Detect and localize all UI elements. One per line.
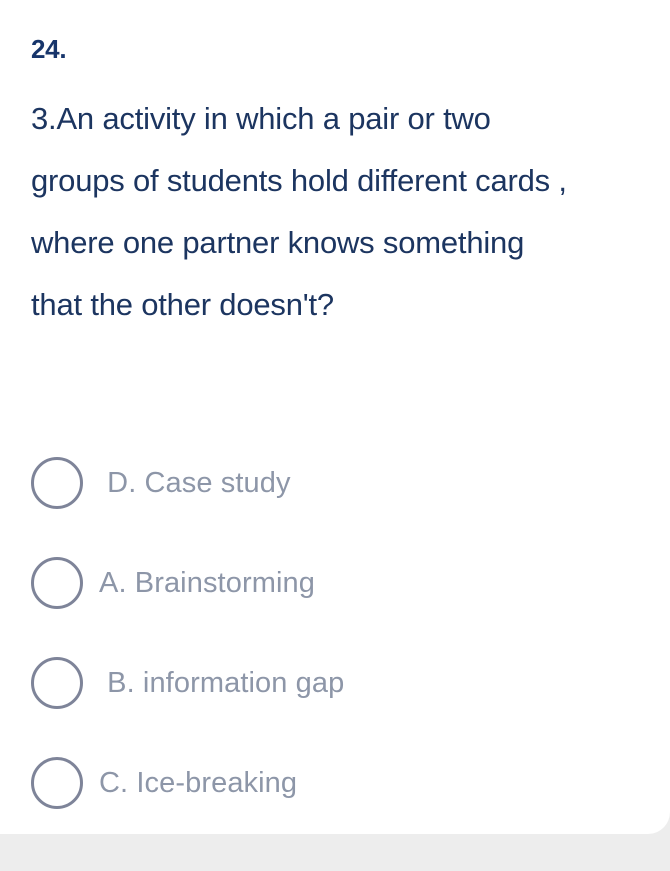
option-row-d[interactable]: D. Case study	[0, 433, 670, 533]
radio-button-icon-d[interactable]	[31, 457, 83, 509]
option-label-c: C. Ice-breaking	[99, 766, 297, 800]
radio-button-icon-b[interactable]	[31, 657, 83, 709]
radio-button-icon-c[interactable]	[31, 757, 83, 809]
question-number: 24.	[31, 32, 66, 66]
option-label-b: B. information gap	[99, 666, 344, 700]
question-text: 3.An activity in which a pair or two gro…	[31, 88, 576, 336]
option-row-a[interactable]: A. Brainstorming	[0, 533, 670, 633]
option-row-c[interactable]: C. Ice-breaking	[0, 733, 670, 833]
answer-options-list: D. Case study A. Brainstorming B. inform…	[0, 433, 670, 833]
option-label-a: A. Brainstorming	[99, 566, 315, 600]
quiz-question-card: 24. 3.An activity in which a pair or two…	[0, 0, 670, 834]
page-background-strip	[0, 834, 670, 871]
option-row-b[interactable]: B. information gap	[0, 633, 670, 733]
radio-button-icon-a[interactable]	[31, 557, 83, 609]
option-label-d: D. Case study	[99, 466, 291, 500]
